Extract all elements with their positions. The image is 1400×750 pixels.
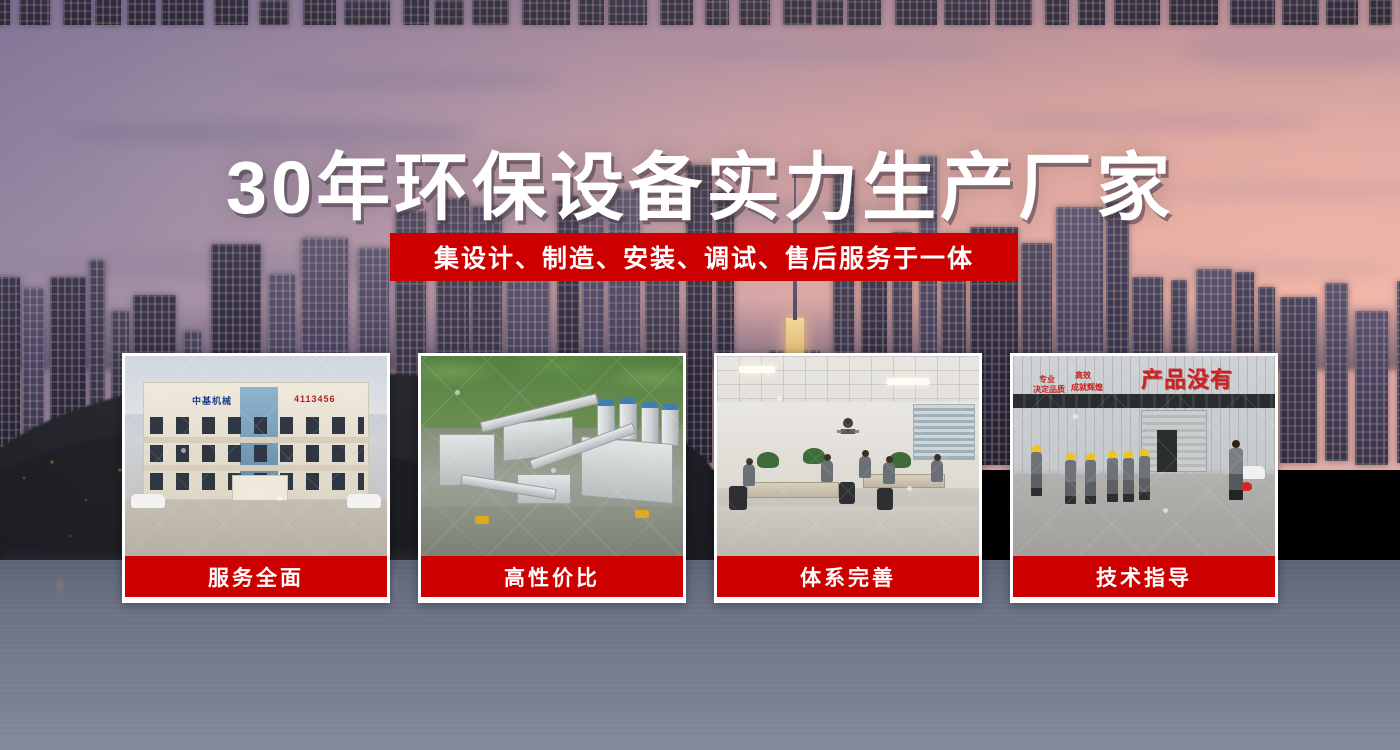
worker-with-hardhat [1107,458,1118,502]
office-chair [877,488,893,510]
factory-doorway [1157,430,1177,472]
skyline-building [259,0,289,25]
skyline-building [63,0,91,25]
skyline-building [1078,0,1105,25]
factory-slogan-small: 高效 [1075,370,1091,381]
skyline-building [214,0,248,25]
factory-slogan-text: 产品没有 [1141,362,1233,394]
watermark-dot [907,486,912,491]
worker-with-hardhat [1031,452,1042,496]
floor-divider [144,465,370,471]
worker-with-hardhat [1085,460,1096,504]
watermark-dot [277,496,282,501]
office-worker [859,456,871,478]
worker-with-hardhat [1139,456,1150,500]
watermark-dot [181,448,186,453]
skyline-building [944,0,990,25]
skyline-building [1230,0,1275,25]
front-plaza [125,500,387,556]
skyline-building [1325,283,1348,461]
skyline-building [1369,0,1392,25]
skyline-building [705,0,729,25]
building-sign-text: 中基机械 [192,394,232,407]
production-plant-aerial-photo [421,356,683,556]
skyline-building [578,0,604,25]
skyline-building [95,0,121,25]
skyline-building [403,0,429,25]
red-hardhat-icon [1241,482,1252,491]
skyline-building [816,0,843,25]
office-worker [821,460,833,482]
office-interior-photo [717,356,979,556]
skyline-building [434,0,464,25]
parked-car [131,494,165,508]
skyline-building [895,0,937,25]
factory-window-strip [1013,394,1275,408]
feature-card[interactable]: 产品没有 专业 高效 决定品质 成就辉煌 [1010,353,1278,603]
skyline-building [1355,311,1388,465]
building-phone-text: 4113456 [294,394,336,404]
feature-card-caption: 高性价比 [421,556,683,597]
window-row [150,417,364,434]
watermark-dot [455,390,460,395]
ceiling-grid [717,356,979,402]
excavator [475,516,489,524]
ceiling-light [887,378,929,385]
hero-headline: 30年环保设备实力生产厂家 [0,128,1400,235]
floor-divider [144,437,370,443]
skyline-building [522,0,570,25]
worker-with-hardhat [1065,460,1076,504]
feature-card-caption: 服务全面 [125,556,387,597]
skyline-building [1282,0,1319,25]
skyline-building [1045,0,1069,25]
worker-with-hardhat [1123,458,1134,502]
skyline-building [660,0,693,25]
office-chair [729,486,747,510]
office-chair [839,482,855,504]
ceiling-light [739,366,775,373]
skyline-building [1326,0,1358,25]
factory-slogan-small: 成就辉煌 [1071,382,1103,393]
skyline-building [19,0,50,25]
feature-card-row: 中基机械 4113456 服务全面 [122,353,1278,603]
hero-banner: 30年环保设备实力生产厂家 集设计、制造、安装、调试、售后服务于一体 中基机械 … [0,0,1400,750]
office-worker [883,462,895,484]
office-worker [743,464,755,486]
hero-subtitle-text: 集设计、制造、安装、调试、售后服务于一体 [434,239,974,275]
wall-decal-icon [835,414,861,438]
skyline-building [1280,297,1317,463]
cement-silo [661,408,679,446]
watermark-dot [777,396,782,401]
supervisor [1229,448,1243,500]
office-desk [747,482,839,498]
skyline-building [127,0,156,25]
hero-subtitle-banner: 集设计、制造、安装、调试、售后服务于一体 [390,233,1018,281]
parked-car [347,494,381,508]
workshop-training-photo: 产品没有 专业 高效 决定品质 成就辉煌 [1013,356,1275,556]
skyline-building [0,277,20,459]
skyline-building [161,0,204,25]
skyline-building [0,0,10,25]
skyline-building [995,0,1032,25]
feature-card[interactable]: 高性价比 [418,353,686,603]
skyline-building [344,0,390,25]
office-floor [717,506,979,556]
skyline-building [783,0,812,25]
office-worker [931,460,943,482]
skyline-building [472,0,509,25]
feature-card[interactable]: 中基机械 4113456 服务全面 [122,353,390,603]
potted-plant [757,452,779,468]
skyline-building [608,0,647,25]
skyline-building [847,0,881,25]
skyline-building [1114,0,1160,25]
feature-card-caption: 技术指导 [1013,556,1275,597]
company-headquarters-photo: 中基机械 4113456 [125,356,387,556]
watermark-dot [551,468,556,473]
excavator [635,510,649,518]
office-window-blinds [913,404,975,460]
skyline-building [1169,0,1218,25]
watermark-dot [1073,414,1078,419]
skyline-building [739,0,770,25]
feature-card[interactable]: 体系完善 [714,353,982,603]
feature-card-caption: 体系完善 [717,556,979,597]
office-building: 中基机械 4113456 [143,382,369,500]
watermark-dot [1163,508,1168,513]
cement-silo [641,406,659,444]
skyline-building [303,0,336,25]
